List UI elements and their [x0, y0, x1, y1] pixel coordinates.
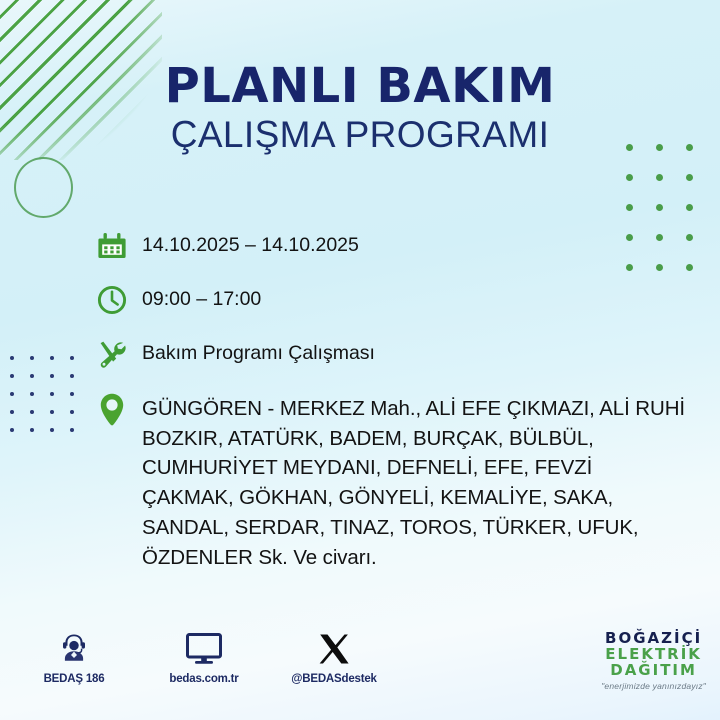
- decorative-dot: [50, 392, 54, 396]
- address-value: GÜNGÖREN - MERKEZ Mah., ALİ EFE ÇIKMAZI,…: [142, 388, 687, 572]
- tools-icon: [96, 334, 142, 374]
- contact-phone[interactable]: BEDAŞ 186: [28, 626, 120, 685]
- decorative-dot: [70, 356, 74, 360]
- bedas-logo: BOĞAZİÇİ ELEKTRİK DAĞITIM "enerjimizde y…: [601, 630, 706, 691]
- decorative-dot: [656, 204, 663, 211]
- decorative-dot: [30, 392, 34, 396]
- work-type-value: Bakım Programı Çalışması: [142, 334, 375, 367]
- info-row-date: 14.10.2025 – 14.10.2025: [96, 226, 696, 266]
- brand-line-2: ELEKTRİK: [601, 646, 706, 662]
- decorative-dot: [10, 410, 14, 414]
- planned-maintenance-poster: PLANLI BAKIM ÇALIŞMA PROGRAMI: [0, 0, 720, 720]
- decorative-dot: [10, 356, 14, 360]
- clock-icon: [96, 280, 142, 320]
- decorative-dot: [10, 428, 14, 432]
- decorative-dot: [70, 374, 74, 378]
- monitor-icon: [158, 626, 250, 666]
- decorative-dot: [30, 374, 34, 378]
- contact-website-label: bedas.com.tr: [158, 673, 250, 685]
- decorative-dot: [30, 356, 34, 360]
- location-pin-icon: [96, 388, 142, 430]
- decorative-dot: [656, 174, 663, 181]
- support-agent-icon: [28, 626, 120, 666]
- decorative-dot: [686, 174, 693, 181]
- decorative-dot: [70, 410, 74, 414]
- contact-phone-label: BEDAŞ 186: [28, 673, 120, 685]
- decorative-dot: [70, 392, 74, 396]
- date-range-value: 14.10.2025 – 14.10.2025: [142, 226, 359, 259]
- decorative-dot: [686, 204, 693, 211]
- x-twitter-icon: [288, 626, 380, 666]
- info-row-worktype: Bakım Programı Çalışması: [96, 334, 696, 374]
- decorative-dot: [70, 428, 74, 432]
- contact-social[interactable]: @BEDASdestek: [288, 626, 380, 685]
- decorative-dot: [626, 174, 633, 181]
- contact-website[interactable]: bedas.com.tr: [158, 626, 250, 685]
- brand-line-1: BOĞAZİÇİ: [601, 630, 706, 646]
- contact-channels: BEDAŞ 186 bedas.com.tr: [28, 626, 380, 685]
- brand-slogan: "enerjimizde yanınızdayız": [601, 682, 706, 691]
- decorative-dot: [10, 374, 14, 378]
- decorative-dot: [10, 392, 14, 396]
- decorative-dot: [30, 410, 34, 414]
- dot-grid-left-decoration: [10, 356, 90, 446]
- time-range-value: 09:00 – 17:00: [142, 280, 261, 313]
- info-row-address: GÜNGÖREN - MERKEZ Mah., ALİ EFE ÇIKMAZI,…: [96, 388, 696, 572]
- decorative-dot: [50, 428, 54, 432]
- circle-outline-decoration: [14, 157, 73, 218]
- info-list: 14.10.2025 – 14.10.2025 09:00 – 17:00: [96, 226, 696, 572]
- poster-heading-block: PLANLI BAKIM ÇALIŞMA PROGRAMI: [0, 62, 720, 155]
- decorative-dot: [50, 410, 54, 414]
- page-subtitle: ÇALIŞMA PROGRAMI: [0, 116, 720, 155]
- decorative-dot: [626, 204, 633, 211]
- decorative-dot: [30, 428, 34, 432]
- decorative-dot: [50, 374, 54, 378]
- info-row-time: 09:00 – 17:00: [96, 280, 696, 320]
- brand-line-3: DAĞITIM: [601, 662, 706, 678]
- poster-footer: BEDAŞ 186 bedas.com.tr: [0, 626, 720, 706]
- contact-social-label: @BEDASdestek: [288, 673, 380, 685]
- decorative-dot: [50, 356, 54, 360]
- page-title: PLANLI BAKIM: [0, 62, 720, 111]
- calendar-icon: [96, 226, 142, 266]
